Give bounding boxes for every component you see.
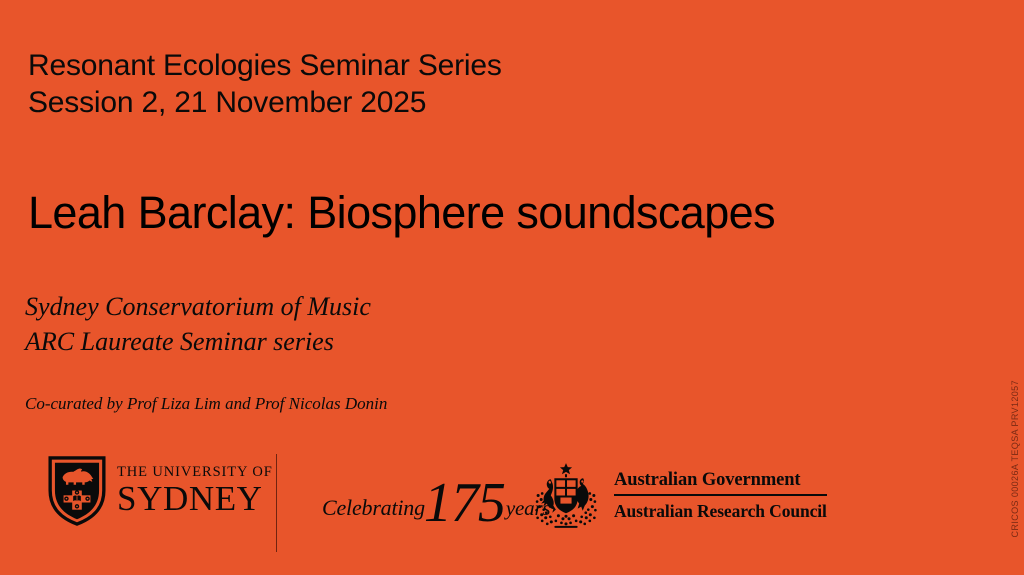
curators-credit: Co-curated by Prof Liza Lim and Prof Nic… xyxy=(25,394,387,414)
arc-council-line: Australian Research Council xyxy=(614,496,827,522)
anniversary-prefix: Celebrating xyxy=(322,495,425,521)
australian-research-council-logo: Australian Government Australian Researc… xyxy=(528,462,827,530)
university-of-sydney-logo: THE UNIVERSITY OF SYDNEY xyxy=(48,456,273,526)
seminar-series-header: Resonant Ecologies Seminar Series Sessio… xyxy=(28,48,502,121)
logo-divider xyxy=(276,454,277,552)
series-title-line: Resonant Ecologies Seminar Series xyxy=(28,48,502,85)
affiliation-institution: Sydney Conservatorium of Music xyxy=(25,290,371,325)
university-crest-icon xyxy=(48,456,106,526)
australian-coat-of-arms-icon xyxy=(528,462,604,530)
page-title: Leah Barclay: Biosphere soundscapes xyxy=(28,187,775,239)
university-wordmark: THE UNIVERSITY OF SYDNEY xyxy=(117,465,273,516)
university-wordmark-main: SYDNEY xyxy=(117,481,273,517)
anniversary-logo: Celebrating 175 years xyxy=(322,475,550,521)
series-session-line: Session 2, 21 November 2025 xyxy=(28,85,502,122)
logo-strip: THE UNIVERSITY OF SYDNEY Celebrating 175… xyxy=(0,448,1024,560)
anniversary-number: 175 xyxy=(424,481,505,526)
arc-wordmark: Australian Government Australian Researc… xyxy=(614,470,827,522)
legal-code-text: CRICOS 00026A TEQSA PRV12057 xyxy=(1010,380,1020,537)
affiliation-block: Sydney Conservatorium of Music ARC Laure… xyxy=(25,290,371,359)
affiliation-program: ARC Laureate Seminar series xyxy=(25,325,371,360)
arc-government-line: Australian Government xyxy=(614,470,827,494)
slide-canvas: Resonant Ecologies Seminar Series Sessio… xyxy=(0,0,1024,575)
university-wordmark-top: THE UNIVERSITY OF xyxy=(117,465,273,480)
